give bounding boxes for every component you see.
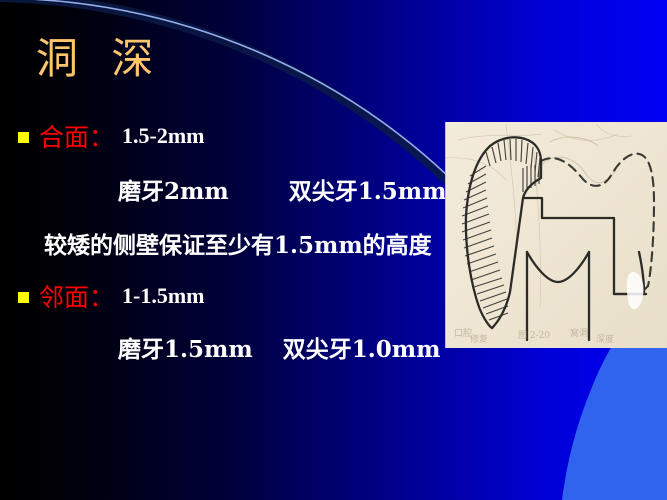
detail-molar-occlusal: 磨牙2mm [118, 178, 229, 205]
bullet-item-occlusal: 合面： 1.5-2mm [0, 118, 460, 154]
bullet-value-occlusal: 1.5-2mm [122, 123, 204, 149]
bullet-label-proximal: 邻面： [39, 278, 114, 314]
detail-premolar-occlusal: 双尖牙1.5mm [289, 178, 447, 205]
tooth-diagram-svg: 口腔 修复 图 2-20 窝洞 深度 [446, 122, 667, 348]
square-bullet-icon [18, 292, 29, 303]
tooth-cross-section-image: 口腔 修复 图 2-20 窝洞 深度 [445, 122, 667, 348]
note-line: 较矮的侧壁保证至少有1.5mm的高度 [0, 226, 460, 260]
svg-text:窝洞: 窝洞 [570, 327, 588, 339]
bullet-label-occlusal: 合面： [39, 118, 114, 154]
bullet-value-proximal: 1-1.5mm [122, 283, 204, 309]
detail-molar-proximal: 磨牙1.5mm [118, 336, 253, 363]
svg-text:修复: 修复 [470, 333, 488, 345]
square-bullet-icon [18, 132, 29, 143]
svg-text:深度: 深度 [596, 333, 614, 345]
bullet-item-proximal: 邻面： 1-1.5mm [0, 278, 460, 314]
page-title: 洞 深 [36, 36, 163, 82]
svg-text:图 2-20: 图 2-20 [518, 330, 550, 341]
content-body: 合面： 1.5-2mm 磨牙2mm 双尖牙1.5mm 较矮的侧壁保证至少有1.5… [0, 118, 460, 364]
detail-line-occlusal: 磨牙2mm 双尖牙1.5mm [0, 172, 460, 206]
slide-canvas: 洞 深 合面： 1.5-2mm 磨牙2mm 双尖牙1.5mm 较矮的侧壁保证至少… [0, 0, 667, 500]
detail-premolar-proximal: 双尖牙1.0mm [283, 336, 441, 363]
detail-line-proximal: 磨牙1.5mm 双尖牙1.0mm [0, 330, 460, 364]
